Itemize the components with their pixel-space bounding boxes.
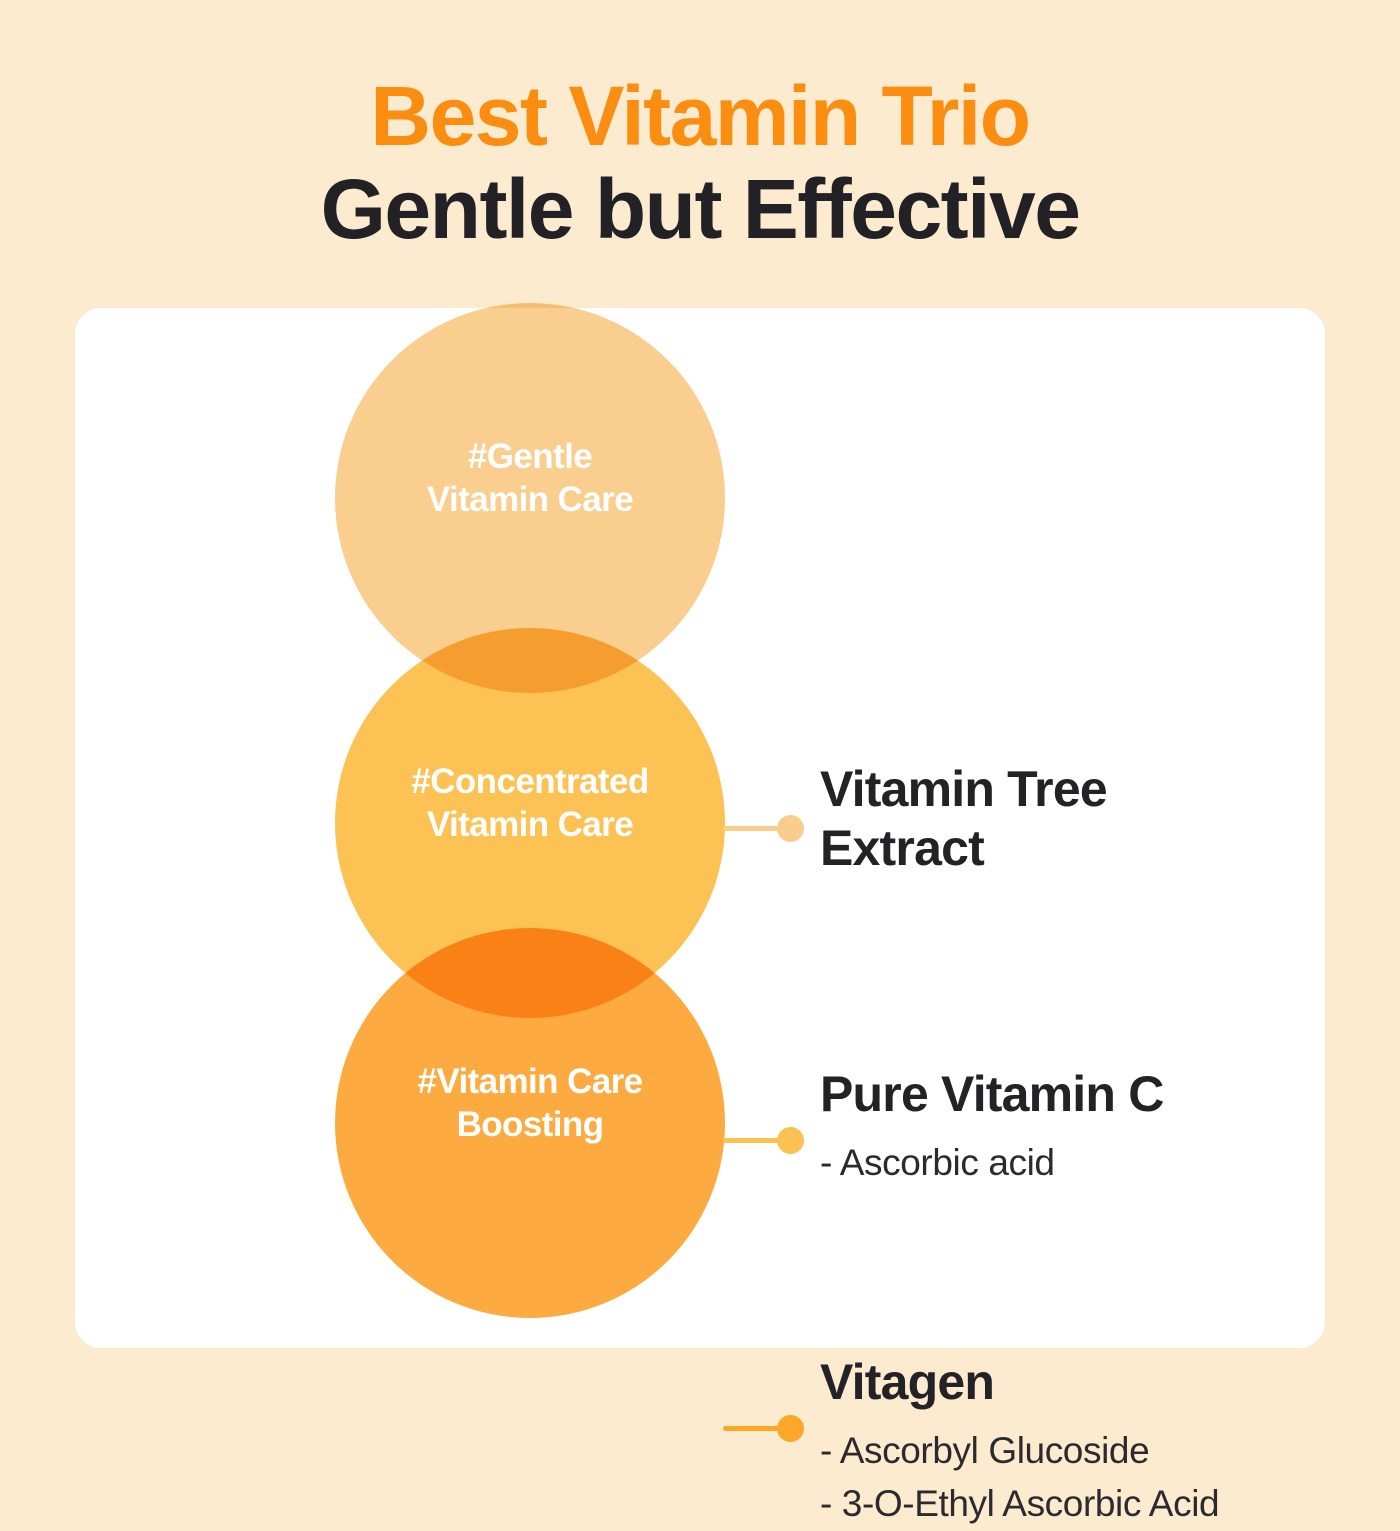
title-line-primary: Best Vitamin Trio [0, 72, 1400, 162]
info-title-vitagen: Vitagen [820, 1353, 1219, 1412]
info-block-vitagen: Vitagen - Ascorbyl Glucoside - 3-O-Ethyl… [820, 1353, 1219, 1531]
infographic-page: Best Vitamin Trio Gentle but Effective #… [0, 0, 1400, 1400]
connector-dot-concentrated [777, 1127, 804, 1154]
connector-dot-boosting [777, 1415, 804, 1442]
info-subtitle-item: - Ascorbic acid [820, 1136, 1164, 1190]
connector-line-boosting [723, 1426, 785, 1431]
connector-line-gentle [723, 826, 785, 831]
title-line-secondary: Gentle but Effective [0, 162, 1400, 256]
info-subtitles-vitagen: - Ascorbyl Glucoside - 3-O-Ethyl Ascorbi… [820, 1424, 1219, 1531]
info-block-pure-vitamin-c: Pure Vitamin C - Ascorbic acid [820, 1065, 1164, 1189]
info-title-pure-vitamin-c: Pure Vitamin C [820, 1065, 1164, 1124]
content-card: #Gentle Vitamin Care #Concentrated Vitam… [75, 308, 1325, 1348]
venn-diagram: #Gentle Vitamin Care #Concentrated Vitam… [260, 296, 800, 1336]
connector-dot-gentle [777, 815, 804, 842]
connector-line-concentrated [723, 1138, 785, 1143]
info-title-vitamin-tree-extract: Vitamin Tree Extract [820, 760, 1107, 877]
info-subtitles-pure-vitamin-c: - Ascorbic acid [820, 1136, 1164, 1190]
venn-circle-boosting [335, 928, 725, 1318]
info-subtitle-item: - Ascorbyl Glucoside [820, 1424, 1219, 1478]
info-subtitle-item: - 3-O-Ethyl Ascorbic Acid [820, 1477, 1219, 1531]
page-title: Best Vitamin Trio Gentle but Effective [0, 72, 1400, 256]
info-block-vitamin-tree-extract: Vitamin Tree Extract [820, 760, 1107, 877]
